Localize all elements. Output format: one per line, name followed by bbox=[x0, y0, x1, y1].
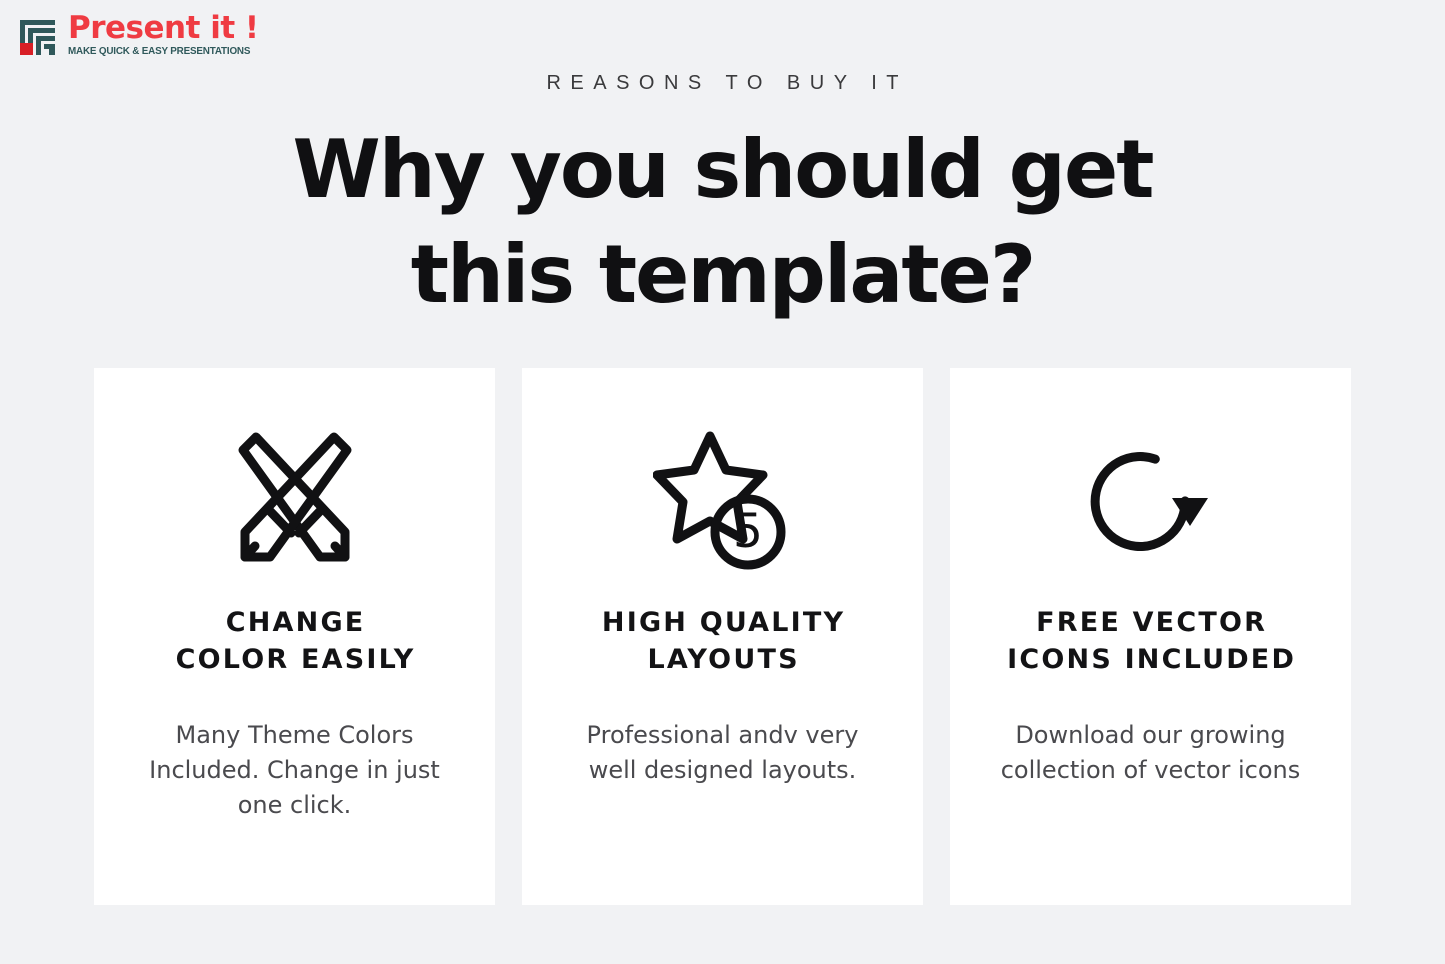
card-heading-line-1: HIGH QUALITY bbox=[600, 604, 846, 641]
page-title-line-1: Why you should get bbox=[0, 117, 1445, 222]
brand-logo: Present it ! MAKE QUICK & EASY PRESENTAT… bbox=[14, 12, 262, 60]
refresh-circle-arrow-icon bbox=[1078, 426, 1223, 576]
card-heading-line-2: LAYOUTS bbox=[600, 641, 846, 678]
card-body-text: Download our growing collection of vecto… bbox=[1001, 718, 1301, 788]
card-body-text: Many Theme Colors Included. Change in ju… bbox=[145, 718, 445, 823]
logo-wordmark: Present it ! bbox=[68, 12, 259, 44]
card-heading: HIGH QUALITY LAYOUTS bbox=[600, 604, 846, 678]
star-badge-number: 5 bbox=[733, 504, 763, 559]
feature-card-free-icons: FREE VECTOR ICONS INCLUDED Download our … bbox=[950, 368, 1351, 905]
logo-text-block: Present it ! MAKE QUICK & EASY PRESENTAT… bbox=[68, 12, 262, 58]
card-icon-wrap: 5 bbox=[653, 426, 793, 576]
page-title: Why you should get this template? bbox=[0, 117, 1445, 327]
logo-tagline: MAKE QUICK & EASY PRESENTATIONS bbox=[68, 45, 250, 58]
pencil-brush-icon bbox=[225, 426, 365, 576]
card-heading-line-1: FREE VECTOR bbox=[1005, 604, 1296, 641]
card-body-text: Professional andv very well designed lay… bbox=[573, 718, 873, 788]
feature-card-change-color: CHANGE COLOR EASILY Many Theme Colors In… bbox=[94, 368, 495, 905]
feature-cards: CHANGE COLOR EASILY Many Theme Colors In… bbox=[94, 368, 1351, 905]
page-title-line-2: this template? bbox=[0, 222, 1445, 327]
card-icon-wrap bbox=[225, 426, 365, 576]
card-icon-wrap bbox=[1078, 426, 1223, 576]
card-heading-line-2: COLOR EASILY bbox=[173, 641, 415, 678]
card-heading: FREE VECTOR ICONS INCLUDED bbox=[1005, 604, 1296, 678]
section-eyebrow: REASONS TO BUY IT bbox=[0, 72, 1445, 95]
card-heading: CHANGE COLOR EASILY bbox=[173, 604, 415, 678]
star-rating-five-icon: 5 bbox=[653, 426, 793, 576]
present-it-logo-mark bbox=[14, 14, 60, 60]
card-heading-line-2: ICONS INCLUDED bbox=[1005, 641, 1296, 678]
feature-card-high-quality: 5 HIGH QUALITY LAYOUTS Professional andv… bbox=[522, 368, 923, 905]
card-heading-line-1: CHANGE bbox=[173, 604, 415, 641]
